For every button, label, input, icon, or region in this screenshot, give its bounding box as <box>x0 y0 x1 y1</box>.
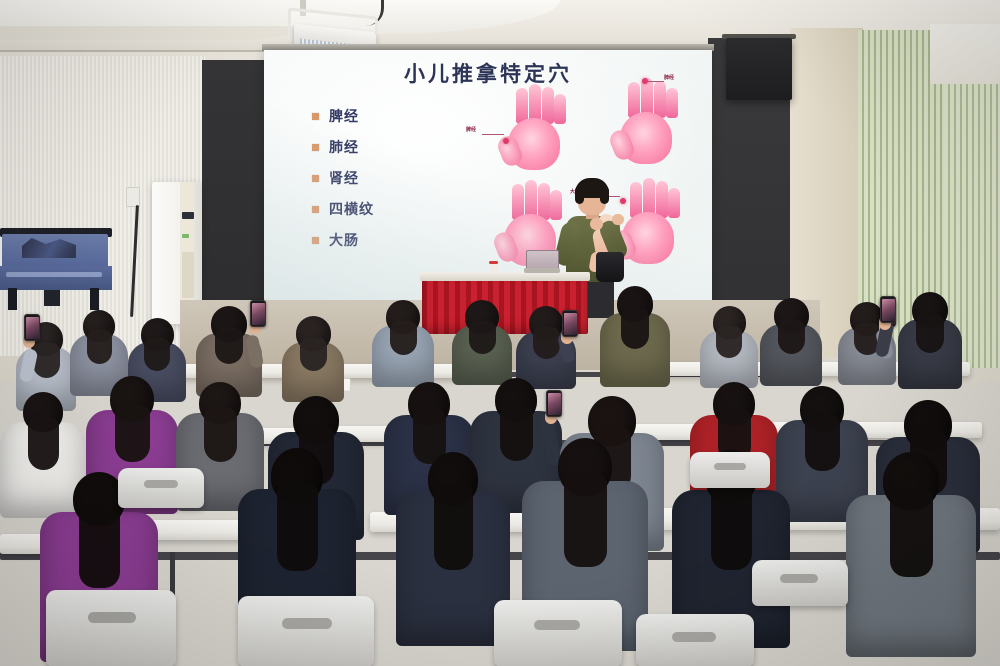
audience-hair <box>390 321 417 355</box>
audience-hair <box>33 343 60 378</box>
audience-hair <box>115 405 149 462</box>
audience-hair <box>79 505 120 588</box>
audience-hair <box>711 483 752 570</box>
audience <box>0 0 1000 666</box>
audience-member <box>760 298 822 395</box>
chair[interactable] <box>494 600 622 666</box>
chair[interactable] <box>690 452 770 488</box>
phone-screen <box>252 303 265 325</box>
audience-member <box>846 452 976 666</box>
chair-handle-slot <box>88 612 136 623</box>
audience-hair <box>916 314 944 353</box>
audience-hair <box>277 483 318 571</box>
audience-member <box>396 452 510 660</box>
audience-hair <box>144 338 170 371</box>
chair[interactable] <box>238 596 374 666</box>
phone-screen <box>26 317 39 339</box>
audience-hair <box>28 417 59 470</box>
audience-hair <box>87 330 112 364</box>
phone-screen <box>882 299 895 321</box>
audience-hair <box>564 474 606 568</box>
smartphone[interactable] <box>24 314 40 341</box>
lecture-hall-photo: 小儿推拿特定穴 脾经 肺经 肾经 四横纹 大肠 <box>0 0 1000 666</box>
chair[interactable] <box>118 468 204 508</box>
audience-hair <box>469 321 496 354</box>
phone-screen <box>564 313 577 335</box>
audience-hair <box>434 485 473 570</box>
chair-handle-slot <box>714 463 746 470</box>
smartphone[interactable] <box>880 296 896 323</box>
smartphone[interactable] <box>562 310 578 337</box>
chair-handle-slot <box>780 574 818 583</box>
audience-hair <box>890 488 934 577</box>
chair[interactable] <box>46 590 176 666</box>
audience-hair <box>621 308 649 349</box>
audience-member <box>600 286 670 396</box>
chair-handle-slot <box>672 632 716 642</box>
chair-handle-slot <box>534 620 580 630</box>
audience-hair <box>778 320 805 354</box>
audience-hair <box>300 338 327 371</box>
chair-handle-slot <box>282 618 332 629</box>
chair-handle-slot <box>144 480 178 488</box>
chair[interactable] <box>752 560 848 606</box>
audience-member <box>898 292 962 398</box>
audience-hair <box>805 415 839 471</box>
audience-hair <box>215 328 243 363</box>
smartphone[interactable] <box>250 300 266 327</box>
audience-hair <box>533 327 560 359</box>
audience-hair <box>716 326 742 358</box>
chair[interactable] <box>636 614 754 666</box>
audience-hair <box>204 408 237 462</box>
